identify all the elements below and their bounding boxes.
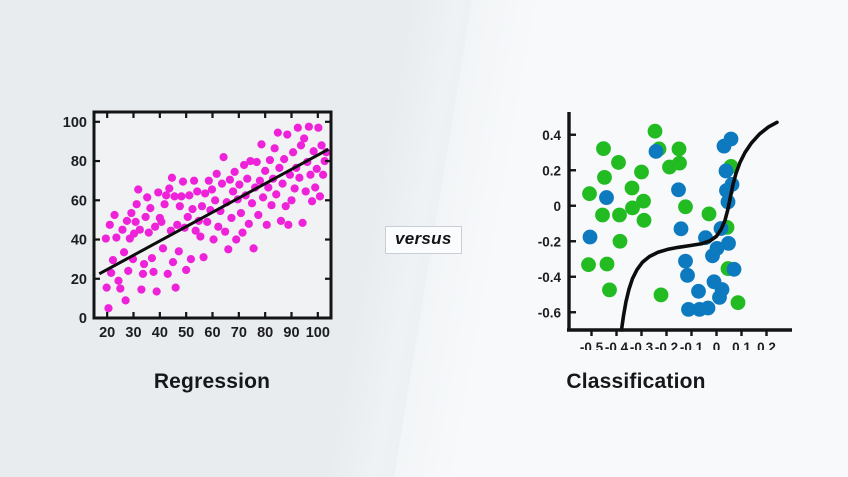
- scatter-point: [118, 226, 126, 234]
- scatter-point: [581, 257, 596, 272]
- scatter-point: [132, 218, 140, 226]
- scatter-point: [317, 141, 325, 149]
- y-tick-label: 40: [71, 233, 87, 249]
- scatter-point: [625, 181, 640, 196]
- scatter-point: [680, 268, 695, 283]
- scatter-point: [203, 218, 211, 226]
- scatter-point: [145, 229, 153, 237]
- scatter-point: [134, 185, 142, 193]
- scatter-point: [245, 220, 253, 228]
- scatter-point: [634, 165, 649, 180]
- scatter-point: [263, 221, 271, 229]
- scatter-point: [583, 230, 598, 245]
- scatter-point: [127, 209, 135, 217]
- scatter-point: [671, 182, 686, 197]
- x-tick-label: 40: [152, 325, 168, 341]
- scatter-point: [719, 164, 734, 179]
- scatter-point: [649, 144, 664, 159]
- scatter-point: [116, 284, 124, 292]
- scatter-point: [185, 191, 193, 199]
- scatter-point: [294, 124, 302, 132]
- scatter-point: [238, 229, 246, 237]
- scatter-point: [311, 183, 319, 191]
- classification-caption: Classification: [424, 370, 848, 394]
- scatter-point: [308, 197, 316, 205]
- scatter-point: [146, 204, 154, 212]
- scatter-point: [179, 178, 187, 186]
- scatter-point: [137, 285, 145, 293]
- classification-chart: -0.5-0.4-0.3-0.2-0.100.10.20.40.20-0.2-0…: [514, 5, 814, 350]
- scatter-point: [106, 221, 114, 229]
- x-tick-label: -0.1: [680, 340, 704, 350]
- y-tick-label: -0.4: [538, 270, 562, 285]
- x-tick-label: 80: [257, 325, 273, 341]
- scatter-point: [211, 196, 219, 204]
- scatter-point: [184, 213, 192, 221]
- scatter-point: [190, 177, 198, 185]
- scatter-point: [271, 144, 279, 152]
- scatter-point: [187, 255, 195, 263]
- scatter-point: [124, 267, 132, 275]
- scatter-point: [674, 221, 689, 236]
- scatter-point: [232, 235, 240, 243]
- scatter-point: [253, 158, 261, 166]
- scatter-point: [602, 282, 617, 297]
- y-tick-label: 0: [553, 199, 561, 214]
- scatter-point: [672, 156, 687, 171]
- x-tick-label: 50: [178, 325, 194, 341]
- scatter-point: [280, 155, 288, 163]
- classification-x-axis: -0.5-0.4-0.3-0.2-0.100.10.2: [580, 330, 776, 350]
- scatter-point: [231, 168, 239, 176]
- scatter-point: [284, 221, 292, 229]
- scatter-point: [272, 190, 280, 198]
- scatter-point: [715, 282, 730, 297]
- x-tick-label: 90: [283, 325, 299, 341]
- scatter-point: [148, 254, 156, 262]
- scatter-point: [672, 142, 687, 157]
- scatter-point: [122, 296, 130, 304]
- scatter-point: [289, 148, 297, 156]
- scatter-point: [226, 176, 234, 184]
- scatter-point: [295, 174, 303, 182]
- scatter-point: [160, 200, 168, 208]
- scatter-point: [157, 218, 165, 226]
- scatter-point: [731, 295, 746, 310]
- x-tick-label: -0.5: [580, 340, 604, 350]
- scatter-point: [249, 244, 257, 252]
- scatter-point: [306, 171, 314, 179]
- scatter-point: [196, 232, 204, 240]
- scatter-point: [721, 236, 736, 251]
- scatter-point: [172, 283, 180, 291]
- x-tick-label: -0.4: [605, 340, 629, 350]
- scatter-point: [198, 202, 206, 210]
- scatter-point: [219, 153, 227, 161]
- scatter-point: [142, 213, 150, 221]
- x-tick-label: 0: [713, 340, 721, 350]
- panel-regression: 2030405060708090100020406080100 Regressi…: [0, 0, 424, 477]
- image-canvas: 2030405060708090100020406080100 Regressi…: [0, 0, 848, 477]
- scatter-point: [136, 226, 144, 234]
- scatter-point: [114, 277, 122, 285]
- scatter-point: [213, 170, 221, 178]
- scatter-point: [182, 266, 190, 274]
- scatter-point: [154, 188, 162, 196]
- scatter-point: [104, 304, 112, 312]
- y-tick-label: -0.2: [538, 234, 561, 249]
- scatter-point: [243, 175, 251, 183]
- scatter-point: [199, 253, 207, 261]
- scatter-point: [208, 185, 216, 193]
- scatter-point: [102, 234, 110, 242]
- scatter-point: [300, 134, 308, 142]
- scatter-point: [257, 140, 265, 148]
- scatter-point: [201, 189, 209, 197]
- panel-classification: -0.5-0.4-0.3-0.2-0.100.10.20.40.20-0.2-0…: [424, 0, 848, 477]
- scatter-point: [221, 228, 229, 236]
- scatter-point: [176, 202, 184, 210]
- y-tick-label: 60: [71, 193, 87, 209]
- x-tick-label: -0.2: [655, 340, 678, 350]
- scatter-point: [123, 217, 131, 225]
- scatter-point: [143, 193, 151, 201]
- scatter-point: [600, 257, 615, 272]
- scatter-point: [319, 171, 327, 179]
- regression-chart: 2030405060708090100020406080100: [62, 100, 352, 350]
- regression-plot-svg: 2030405060708090100020406080100: [62, 100, 352, 350]
- scatter-point: [169, 258, 177, 266]
- scatter-point: [177, 192, 185, 200]
- scatter-point: [283, 130, 291, 138]
- scatter-point: [314, 124, 322, 132]
- regression-caption: Regression: [0, 370, 424, 394]
- scatter-point: [259, 193, 267, 201]
- y-tick-label: -0.6: [538, 305, 562, 320]
- x-tick-label: 70: [231, 325, 247, 341]
- scatter-point: [678, 254, 693, 269]
- scatter-point: [275, 164, 283, 172]
- scatter-point: [637, 213, 652, 228]
- scatter-point: [120, 248, 128, 256]
- x-tick-label: 0.2: [757, 340, 776, 350]
- scatter-point: [597, 170, 612, 185]
- scatter-point: [305, 123, 313, 131]
- scatter-point: [636, 194, 651, 209]
- scatter-point: [188, 205, 196, 213]
- scatter-point: [159, 244, 167, 252]
- scatter-point: [648, 124, 663, 139]
- y-tick-label: 0.4: [542, 128, 561, 143]
- x-tick-label: -0.3: [630, 340, 654, 350]
- y-tick-label: 0.2: [542, 163, 561, 178]
- scatter-point: [267, 201, 275, 209]
- scatter-point: [103, 283, 111, 291]
- scatter-point: [287, 196, 295, 204]
- scatter-point: [193, 187, 201, 195]
- scatter-point: [274, 129, 282, 137]
- scatter-point: [582, 186, 597, 201]
- scatter-point: [611, 155, 626, 170]
- x-tick-label: 60: [204, 325, 220, 341]
- scatter-point: [302, 187, 310, 195]
- scatter-point: [724, 132, 739, 147]
- scatter-point: [595, 208, 610, 223]
- scatter-point: [235, 180, 243, 188]
- scatter-point: [727, 262, 742, 277]
- scatter-point: [282, 202, 290, 210]
- scatter-point: [261, 167, 269, 175]
- scatter-point: [237, 209, 245, 217]
- scatter-point: [277, 217, 285, 225]
- scatter-point: [224, 245, 232, 253]
- scatter-point: [298, 219, 306, 227]
- scatter-point: [254, 211, 262, 219]
- x-tick-label: 30: [125, 325, 141, 341]
- classification-plot-svg: -0.5-0.4-0.3-0.2-0.100.10.20.40.20-0.2-0…: [514, 5, 814, 350]
- scatter-point: [175, 247, 183, 255]
- scatter-point: [110, 211, 118, 219]
- scatter-point: [599, 190, 614, 205]
- scatter-point: [612, 208, 627, 223]
- scatter-point: [164, 270, 172, 278]
- scatter-point: [109, 256, 117, 264]
- scatter-point: [205, 177, 213, 185]
- scatter-point: [214, 223, 222, 231]
- scatter-point: [149, 268, 157, 276]
- y-tick-label: 20: [71, 272, 87, 288]
- scatter-point: [229, 187, 237, 195]
- y-tick-label: 80: [71, 154, 87, 170]
- scatter-point: [168, 174, 176, 182]
- scatter-point: [227, 214, 235, 222]
- scatter-point: [218, 180, 226, 188]
- scatter-point: [165, 184, 173, 192]
- scatter-point: [613, 234, 628, 249]
- scatter-point: [278, 180, 286, 188]
- scatter-point: [248, 199, 256, 207]
- scatter-point: [678, 199, 693, 214]
- scatter-point: [596, 141, 611, 156]
- scatter-point: [173, 221, 181, 229]
- scatter-point: [139, 270, 147, 278]
- x-tick-label: 100: [306, 325, 330, 341]
- scatter-point: [133, 200, 141, 208]
- scatter-point: [266, 156, 274, 164]
- scatter-point: [702, 207, 717, 222]
- x-tick-label: 0.1: [732, 340, 751, 350]
- scatter-point: [654, 287, 669, 302]
- x-tick-label: 20: [99, 325, 115, 341]
- scatter-point: [112, 233, 120, 241]
- scatter-point: [291, 184, 299, 192]
- scatter-point: [209, 235, 217, 243]
- scatter-point: [313, 165, 321, 173]
- scatter-point: [153, 287, 161, 295]
- scatter-point: [691, 284, 706, 299]
- y-tick-label: 100: [63, 115, 87, 131]
- scatter-point: [140, 260, 148, 268]
- y-tick-label: 0: [79, 311, 87, 327]
- scatter-point: [316, 192, 324, 200]
- scatter-point: [701, 301, 716, 316]
